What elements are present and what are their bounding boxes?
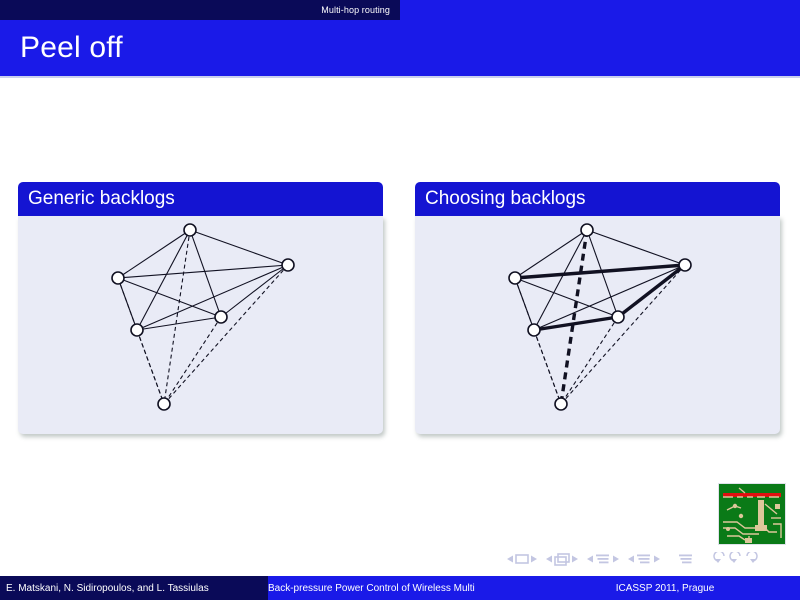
slide-prev-icon <box>507 556 513 563</box>
graph-edge <box>118 230 190 278</box>
circuit-board-graphic <box>719 484 785 544</box>
navigation-symbols-graphic[interactable] <box>505 552 765 566</box>
graph-edge <box>515 230 587 278</box>
back-arrow-head <box>715 559 721 563</box>
footer-paper-title: Back-pressure Power Control of Wireless … <box>268 576 538 600</box>
subsection-next-icon <box>613 556 619 563</box>
section-prev-icon <box>628 556 634 563</box>
graph-node <box>555 398 567 410</box>
graph-edge <box>515 278 618 317</box>
slide-title-bar: Peel off <box>0 20 800 76</box>
frame-prev-icon <box>546 556 552 563</box>
slide-canvas: Multi-hop routing Peel off Generic backl… <box>0 0 800 600</box>
network-graph-generic <box>18 216 383 434</box>
graph-edge <box>164 265 288 404</box>
subsection-prev-icon <box>587 556 593 563</box>
footer-venue: ICASSP 2011, Prague <box>538 576 800 600</box>
search-arrow-head <box>731 559 737 563</box>
graph-node <box>282 259 294 271</box>
graph-edge <box>164 317 221 404</box>
graph-node <box>528 324 540 336</box>
network-graph-choosing <box>415 216 780 434</box>
graph-edge <box>190 230 288 265</box>
graph-edge <box>190 230 221 317</box>
graph-node <box>679 259 691 271</box>
graph-edge <box>587 230 685 265</box>
beamer-navigation-symbols[interactable] <box>505 551 765 567</box>
block-body-choosing <box>415 216 780 434</box>
graph-node <box>112 272 124 284</box>
slide-marker-icon <box>516 555 528 563</box>
graph-edge <box>221 265 288 317</box>
slide-content: Generic backlogs Choosing backlogs <box>0 78 800 538</box>
graph-edge <box>534 317 618 330</box>
section-tab-label: Multi-hop routing <box>321 5 390 15</box>
subsection-marker-icon <box>596 555 609 564</box>
slide-next-icon <box>531 556 537 563</box>
graph-node <box>131 324 143 336</box>
forward-arrow-head <box>750 559 756 563</box>
section-tab[interactable]: Multi-hop routing <box>0 0 400 20</box>
graph-node <box>581 224 593 236</box>
graph-node <box>509 272 521 284</box>
frame-next-icon <box>572 556 578 563</box>
graph-node <box>184 224 196 236</box>
graph-node <box>158 398 170 410</box>
page-title: Peel off <box>0 31 123 65</box>
footline: E. Matskani, N. Sidiropoulos, and L. Tas… <box>0 576 800 600</box>
block-title-choosing: Choosing backlogs <box>415 182 780 216</box>
section-marker-icon <box>637 555 650 564</box>
graph-node <box>612 311 624 323</box>
graph-edge <box>561 265 685 404</box>
circuit-board-logo <box>718 483 786 545</box>
graph-node <box>215 311 227 323</box>
section-next-icon <box>654 556 660 563</box>
footer-author: E. Matskani, N. Sidiropoulos, and L. Tas… <box>0 576 268 600</box>
block-title-generic: Generic backlogs <box>18 182 383 216</box>
appendix-marker-icon <box>679 555 692 564</box>
block-generic-backlogs: Generic backlogs <box>18 182 383 434</box>
graph-edge <box>561 317 618 404</box>
headline-bar: Multi-hop routing <box>0 0 800 20</box>
frame-marker-icon <box>558 554 569 562</box>
graph-edge <box>137 317 221 330</box>
block-choosing-backlogs: Choosing backlogs <box>415 182 780 434</box>
graph-edge <box>118 278 221 317</box>
graph-edge <box>618 265 685 317</box>
block-body-generic <box>18 216 383 434</box>
